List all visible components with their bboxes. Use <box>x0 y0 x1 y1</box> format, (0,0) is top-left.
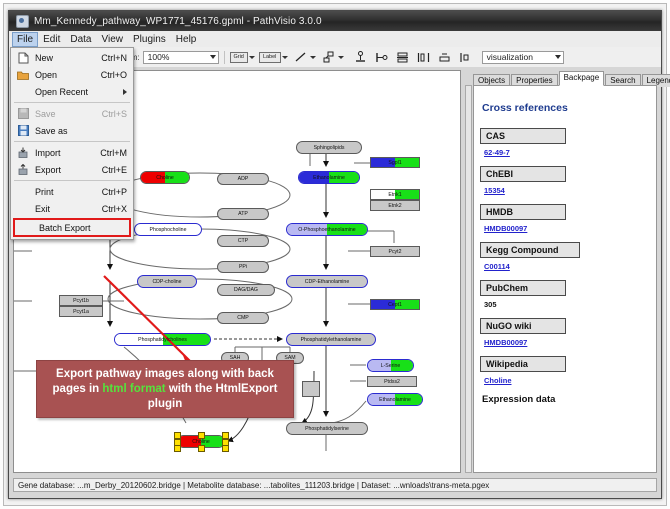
gene-node-ptdss2[interactable]: Ptdss2 <box>367 376 417 387</box>
metabolite-node-choline-top[interactable]: Choline <box>140 171 190 184</box>
stack-button[interactable] <box>438 51 451 64</box>
xref-label-kegg: Kegg Compound <box>480 242 580 258</box>
metabolite-node-sphingolipids[interactable]: Sphingolipids <box>296 141 362 154</box>
node-label: Etnk1 <box>388 192 401 198</box>
save-disk-icon <box>11 108 35 119</box>
node-label: CTP <box>238 238 248 244</box>
file-menu-dropdown[interactable]: New Ctrl+N Open Ctrl+O Open Recent <box>10 47 134 240</box>
menu-item-batch-export-label: Batch Export <box>39 223 129 233</box>
metabolite-node-phosphatidylcholines[interactable]: Phosphatidylcholines <box>114 333 211 346</box>
xref-label-chebi: ChEBI <box>480 166 566 182</box>
title-bar: Mm_Kennedy_pathway_WP1771_45176.gpml - P… <box>9 11 661 32</box>
line-chevron-down-icon[interactable] <box>310 56 316 59</box>
selection-handle[interactable] <box>198 432 205 439</box>
tab-backpage[interactable]: Backpage <box>559 71 605 86</box>
node-label: ADP <box>238 176 249 182</box>
line-tool-button[interactable] <box>294 51 307 64</box>
save-as-disk-icon <box>11 125 35 136</box>
metabolite-node-cdp-ethanolamine[interactable]: CDP-Ethanolamine <box>286 275 368 288</box>
node-label: Etnk2 <box>388 203 401 209</box>
node-label: Sgpl1 <box>388 160 401 166</box>
zoom-value: 100% <box>148 52 206 62</box>
xref-label-wikipedia: Wikipedia <box>480 356 566 372</box>
xref-value-hmdb[interactable]: HMDB00097 <box>484 224 646 233</box>
shape-tool-button[interactable] <box>322 51 335 64</box>
menu-item-open-accel: Ctrl+O <box>101 70 133 80</box>
node-label: Phosphatidylcholines <box>138 337 187 343</box>
gene-node-pcyt1b[interactable]: Pcyt1b <box>59 295 103 306</box>
app-icon <box>16 15 29 28</box>
xref-value-wikipedia[interactable]: Choline <box>484 376 646 385</box>
grid-chevron-down-icon[interactable] <box>249 56 255 59</box>
menu-item-open-recent[interactable]: Open Recent <box>11 83 133 100</box>
metabolite-node-dag-dag[interactable]: DAG/DAG <box>217 284 275 296</box>
sidebar: Objects Properties Backpage Search Legen… <box>465 70 657 473</box>
expression-data-heading: Expression data <box>482 394 646 405</box>
menu-item-print-label: Print <box>35 187 102 197</box>
menu-item-new-accel: Ctrl+N <box>101 53 133 63</box>
backpage-panel: Cross references CAS 62-49-7 ChEBI 15354… <box>473 85 657 473</box>
cross-references-heading: Cross references <box>482 102 646 114</box>
menu-separator-3 <box>14 180 130 181</box>
node-label: CDP-Ethanolamine <box>305 279 349 285</box>
callout-highlight: html format <box>102 383 165 395</box>
metabolite-node-phosphocholine[interactable]: Phosphocholine <box>134 223 202 236</box>
node-label: Phosphatidylserine <box>305 426 349 432</box>
label-chevron-down-icon[interactable] <box>282 56 288 59</box>
node-label: Cept1 <box>388 302 402 308</box>
metabolite-node-phosphatidylserine[interactable]: Phosphatidylserine <box>286 422 368 435</box>
align-top-button[interactable] <box>354 51 367 64</box>
menu-item-print-accel: Ctrl+P <box>102 187 133 197</box>
menu-item-batch-export[interactable]: Batch Export <box>13 218 131 237</box>
xref-label-hmdb: HMDB <box>480 204 566 220</box>
node-label: PPi <box>239 264 247 270</box>
menu-item-save-as-label: Save as <box>35 126 127 136</box>
window-title: Mm_Kennedy_pathway_WP1771_45176.gpml - P… <box>34 16 322 27</box>
annotation-callout: Export pathway images along with back pa… <box>36 360 294 418</box>
menu-data[interactable]: Data <box>65 32 96 47</box>
annotation-callout-text: Export pathway images along with back pa… <box>37 367 293 412</box>
gene-node-etnk1[interactable]: Etnk1 <box>370 189 420 200</box>
align-left-button[interactable] <box>375 51 388 64</box>
menu-item-save-as[interactable]: Save as <box>11 122 133 139</box>
xref-value-chebi[interactable]: 15354 <box>484 186 646 195</box>
grid-button[interactable]: Grid <box>230 52 248 63</box>
metabolite-node-ethanolamine-top[interactable]: Ethanolamine <box>298 171 360 184</box>
visualization-combobox[interactable]: visualization <box>482 51 564 64</box>
menu-item-exit-label: Exit <box>35 204 102 214</box>
menu-item-exit-accel: Ctrl+X <box>102 204 133 214</box>
gene-node-etnk2[interactable]: Etnk2 <box>370 200 420 211</box>
label-button[interactable]: Label <box>259 52 281 63</box>
zoom-combobox[interactable]: 100% <box>143 51 219 64</box>
menu-item-save[interactable]: Save Ctrl+S <box>11 105 133 122</box>
screenshot-root: Mm_Kennedy_pathway_WP1771_45176.gpml - P… <box>0 0 670 509</box>
node-label: Pcyt2 <box>389 249 402 255</box>
node-label: Ethanolamine <box>313 175 345 181</box>
gene-node-pcyt2[interactable]: Pcyt2 <box>370 246 420 257</box>
menu-item-save-accel: Ctrl+S <box>102 109 133 119</box>
metabolite-node-cdp-choline[interactable]: CDP-choline <box>137 275 197 288</box>
menu-edit[interactable]: Edit <box>38 32 65 47</box>
node-label: CMP <box>237 315 249 321</box>
metabolite-node-ctp[interactable]: CTP <box>217 235 269 247</box>
menu-item-export-accel: Ctrl+E <box>102 165 133 175</box>
node-label: Ethanolamine <box>379 397 411 403</box>
node-label: Sphingolipids <box>314 145 345 151</box>
sidebar-scrollbar[interactable] <box>465 85 472 473</box>
xref-label-pubchem: PubChem <box>480 280 566 296</box>
metabolite-node-cmp[interactable]: CMP <box>217 312 269 324</box>
xref-value-kegg[interactable]: C00114 <box>484 262 646 271</box>
new-document-icon <box>11 52 35 64</box>
size-button[interactable] <box>459 51 472 64</box>
gene-node-sgpl1[interactable]: Sgpl1 <box>370 157 420 168</box>
sidebar-tabs: Objects Properties Backpage Search Legen… <box>473 72 657 86</box>
menu-item-print[interactable]: Print Ctrl+P <box>11 183 133 200</box>
menu-item-import[interactable]: Import Ctrl+M <box>11 144 133 161</box>
menu-separator-2 <box>14 141 130 142</box>
open-folder-icon <box>11 70 35 80</box>
import-icon <box>11 147 35 158</box>
xref-label-nugo: NuGO wiki <box>480 318 566 334</box>
metabolite-node-ethanolamine-bottom[interactable]: Ethanolamine <box>367 393 423 406</box>
distribute-horizontal-button[interactable] <box>417 51 430 64</box>
menu-bar: File Edit Data View Plugins Help <box>9 31 661 48</box>
menu-item-export[interactable]: Export Ctrl+E <box>11 161 133 178</box>
metabolite-node-adp[interactable]: ADP <box>217 173 269 185</box>
xref-value-pubchem: 305 <box>484 300 646 309</box>
status-bar-text: Gene database: ...m_Derby_20120602.bridg… <box>13 478 657 492</box>
align-vertical-button[interactable] <box>396 51 409 64</box>
menu-item-new[interactable]: New Ctrl+N <box>11 49 133 66</box>
menu-file[interactable]: File <box>12 32 38 47</box>
node-label: Ptdss2 <box>384 379 400 385</box>
selection-handle[interactable] <box>174 445 181 452</box>
menu-item-import-accel: Ctrl+M <box>100 148 133 158</box>
metabolite-node-l-serine[interactable]: L-Serine <box>367 359 414 372</box>
node-label: O-Phosphoethanolamine <box>298 227 355 233</box>
metabolite-node-o-phosphoethanolamine[interactable]: O-Phosphoethanolamine <box>286 223 368 236</box>
node-label: Phosphatidylethanolamine <box>301 337 362 343</box>
node-label: Choline <box>156 175 174 181</box>
gene-node-chka[interactable] <box>302 381 320 397</box>
selection-handle[interactable] <box>222 445 229 452</box>
visualization-chevron-down-icon <box>555 55 561 59</box>
menu-item-new-label: New <box>35 53 101 63</box>
menu-item-save-label: Save <box>35 109 102 119</box>
shape-chevron-down-icon[interactable] <box>338 56 344 59</box>
node-label: L-Serine <box>381 363 401 369</box>
submenu-arrow-icon <box>123 89 127 95</box>
selection-handle[interactable] <box>198 445 205 452</box>
export-icon <box>11 164 35 175</box>
metabolite-node-atp[interactable]: ATP <box>217 208 269 220</box>
menu-view[interactable]: View <box>96 32 128 47</box>
gene-node-pcyt1a[interactable]: Pcyt1a <box>59 306 103 317</box>
status-bar: Gene database: ...m_Derby_20120602.bridg… <box>9 476 661 498</box>
menu-item-import-label: Import <box>35 148 100 158</box>
metabolite-node-phosphatidylethanolamine[interactable]: Phosphatidylethanolamine <box>286 333 376 346</box>
menu-plugins[interactable]: Plugins <box>128 32 171 47</box>
menu-item-export-label: Export <box>35 165 102 175</box>
xref-label-cas: CAS <box>480 128 566 144</box>
node-label: DAG/DAG <box>234 287 258 293</box>
menu-item-open-recent-label: Open Recent <box>35 87 123 97</box>
node-label: Pcyt1a <box>73 309 89 315</box>
toolbar-separator <box>224 51 225 64</box>
menu-item-open-label: Open <box>35 70 101 80</box>
application-window: Mm_Kennedy_pathway_WP1771_45176.gpml - P… <box>8 10 662 499</box>
gene-node-cept1[interactable]: Cept1 <box>370 299 420 310</box>
xref-value-cas[interactable]: 62-49-7 <box>484 148 646 157</box>
node-label: ATP <box>238 211 248 217</box>
menu-separator-1 <box>14 102 130 103</box>
menu-help[interactable]: Help <box>171 32 202 47</box>
visualization-value: visualization <box>487 52 551 62</box>
menu-item-exit[interactable]: Exit Ctrl+X <box>11 200 133 217</box>
node-label: CDP-choline <box>152 279 181 285</box>
xref-value-nugo[interactable]: HMDB00097 <box>484 338 646 347</box>
menu-item-open[interactable]: Open Ctrl+O <box>11 66 133 83</box>
chevron-down-icon <box>210 55 216 59</box>
node-label: Pcyt1b <box>73 298 89 304</box>
metabolite-node-ppi[interactable]: PPi <box>217 261 269 273</box>
node-label: Phosphocholine <box>150 227 187 233</box>
node-label: Choline <box>192 439 210 445</box>
